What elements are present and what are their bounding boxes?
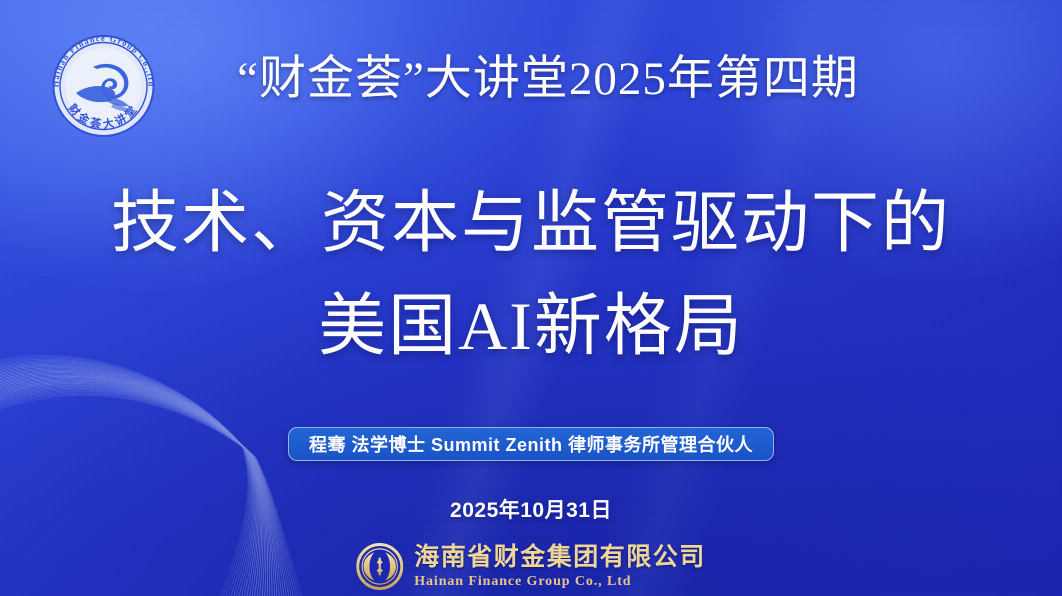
footer-company-cn: 海南省财金集团有限公司 — [414, 545, 706, 570]
footer-brand: 海南省财金集团有限公司 Hainan Finance Group Co., Lt… — [356, 543, 706, 590]
title-line-2: 美国AI新格局 — [0, 275, 1062, 378]
event-date: 2025年10月31日 — [0, 494, 1062, 524]
speaker-badge: 程骞 法学博士 Summit Zenith 律师事务所管理合伙人 — [288, 427, 774, 461]
title-line-1: 技术、资本与监管驱动下的 — [0, 172, 1062, 275]
hainan-finance-group-coin-mark-icon — [356, 543, 403, 590]
footer-company-names: 海南省财金集团有限公司 Hainan Finance Group Co., Lt… — [414, 545, 706, 589]
page-title: 技术、资本与监管驱动下的 美国AI新格局 — [0, 172, 1062, 379]
footer-company-en: Hainan Finance Group Co., Ltd — [414, 575, 706, 589]
event-series-title: “财金荟”大讲堂2025年第四期 — [0, 52, 1062, 107]
title-slide: Hainan Finance Group Co.,ltd 财金荟大讲堂 “财金荟… — [0, 0, 1062, 596]
